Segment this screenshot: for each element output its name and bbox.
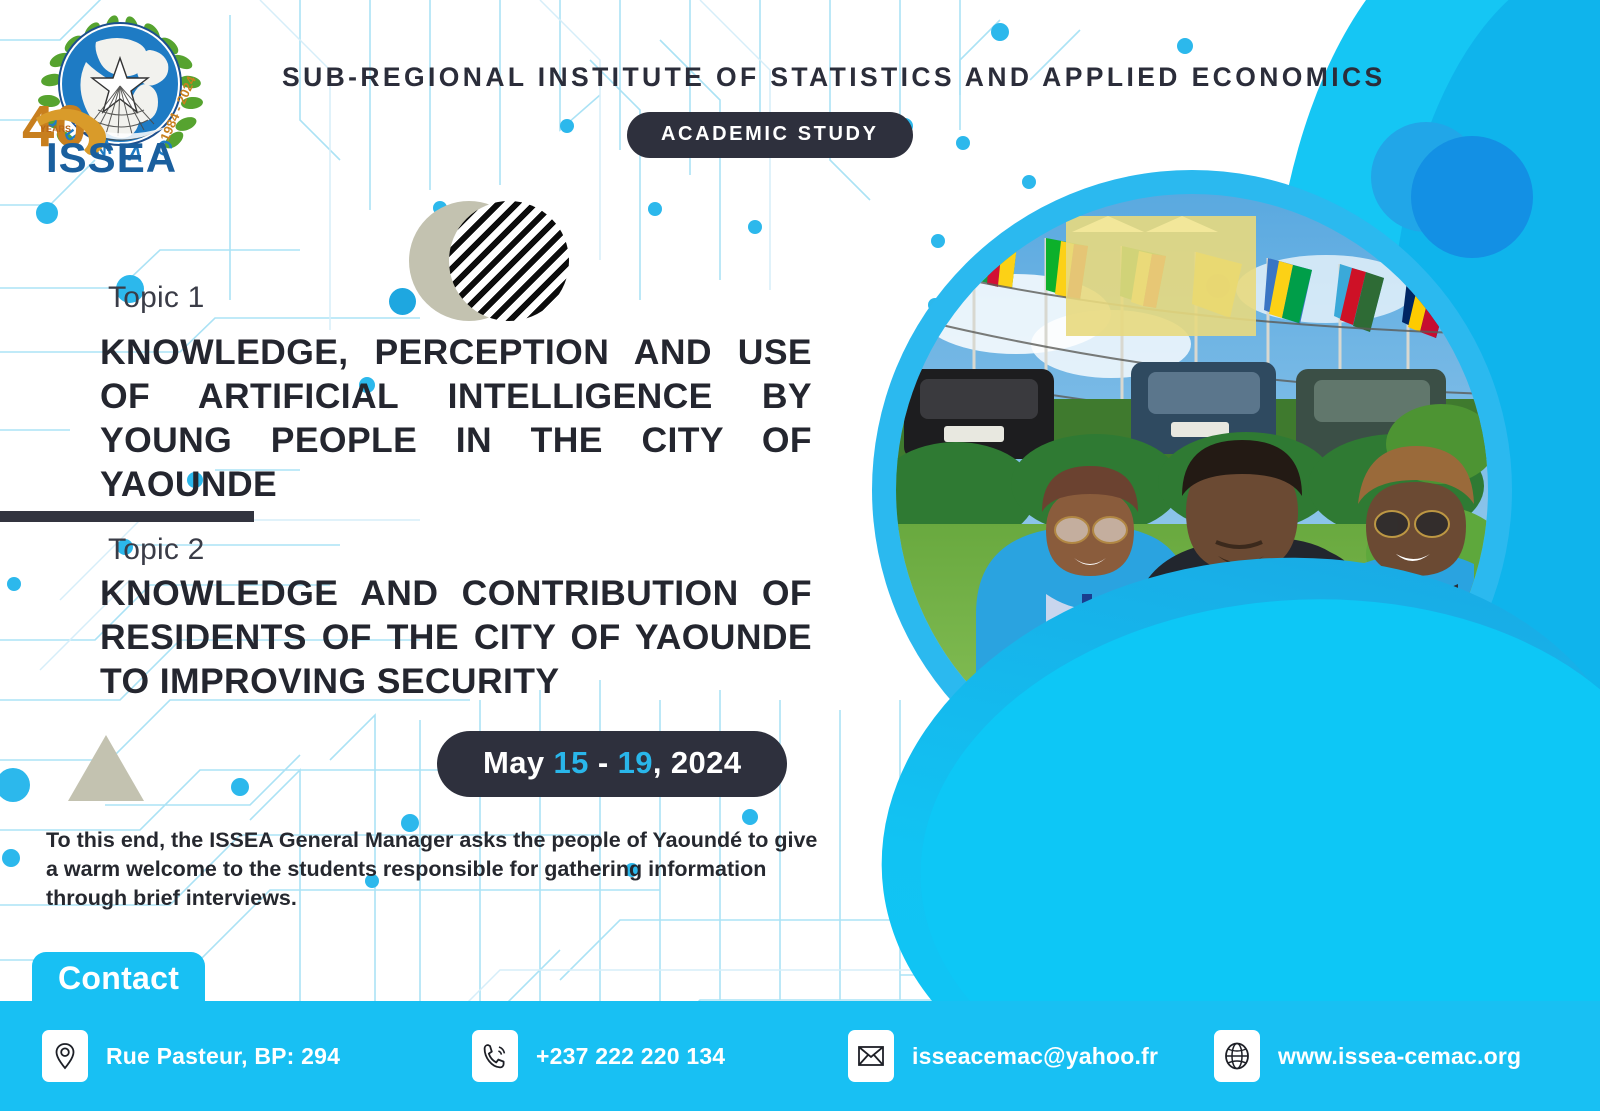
topic-2-title: KNOWLEDGE AND CONTRIBUTION OF RESIDENTS … (100, 571, 812, 703)
topic-2-label: Topic 2 (108, 533, 204, 567)
date-day-start: 15 (554, 745, 589, 780)
date-month: May (483, 745, 545, 780)
date-day-end: 19 (618, 745, 653, 780)
contact-heading: Contact (32, 952, 205, 1001)
topic-divider (0, 511, 254, 522)
poster-canvas: C E M A C 40 YEARS 1984 - 2024 ISSEA SUB… (0, 0, 1600, 1111)
envelope-icon (848, 1030, 894, 1082)
contact-website-text: www.issea-cemac.org (1278, 1043, 1521, 1070)
phone-icon (472, 1030, 518, 1082)
topic-1-title: KNOWLEDGE, PERCEPTION AND USE OF ARTIFIC… (100, 330, 812, 506)
contact-address-text: Rue Pasteur, BP: 294 (106, 1043, 340, 1070)
location-pin-icon (42, 1030, 88, 1082)
contact-item-website[interactable]: www.issea-cemac.org (1214, 1030, 1521, 1082)
date-year: , 2024 (653, 745, 742, 780)
contact-item-email[interactable]: isseacemac@yahoo.fr (848, 1030, 1158, 1082)
contact-items-row: Rue Pasteur, BP: 294 +237 222 220 134 is… (0, 1001, 1600, 1111)
institute-title: SUB-REGIONAL INSTITUTE OF STATISTICS AND… (282, 62, 1372, 93)
beige-triangle-decoration (68, 735, 144, 801)
academic-study-badge: ACADEMIC STUDY (627, 112, 913, 158)
announcement-text: To this end, the ISSEA General Manager a… (46, 826, 821, 913)
globe-icon (1214, 1030, 1260, 1082)
striped-circle-decoration (449, 201, 569, 321)
issea-cemac-logo: C E M A C 40 YEARS 1984 - 2024 ISSEA (14, 6, 224, 186)
topic-1-label: Topic 1 (108, 281, 204, 315)
svg-text:YEARS: YEARS (40, 124, 71, 134)
date-separator: - (589, 745, 618, 780)
contact-item-address[interactable]: Rue Pasteur, BP: 294 (42, 1030, 340, 1082)
date-badge: May 15 - 19, 2024 (437, 731, 787, 797)
contact-phone-text: +237 222 220 134 (536, 1043, 725, 1070)
blue-dot-decoration (389, 288, 416, 315)
svg-text:ISSEA: ISSEA (46, 134, 177, 181)
contact-email-text: isseacemac@yahoo.fr (912, 1043, 1158, 1070)
contact-item-phone[interactable]: +237 222 220 134 (472, 1030, 725, 1082)
overlap-circle-dark (1411, 136, 1533, 258)
